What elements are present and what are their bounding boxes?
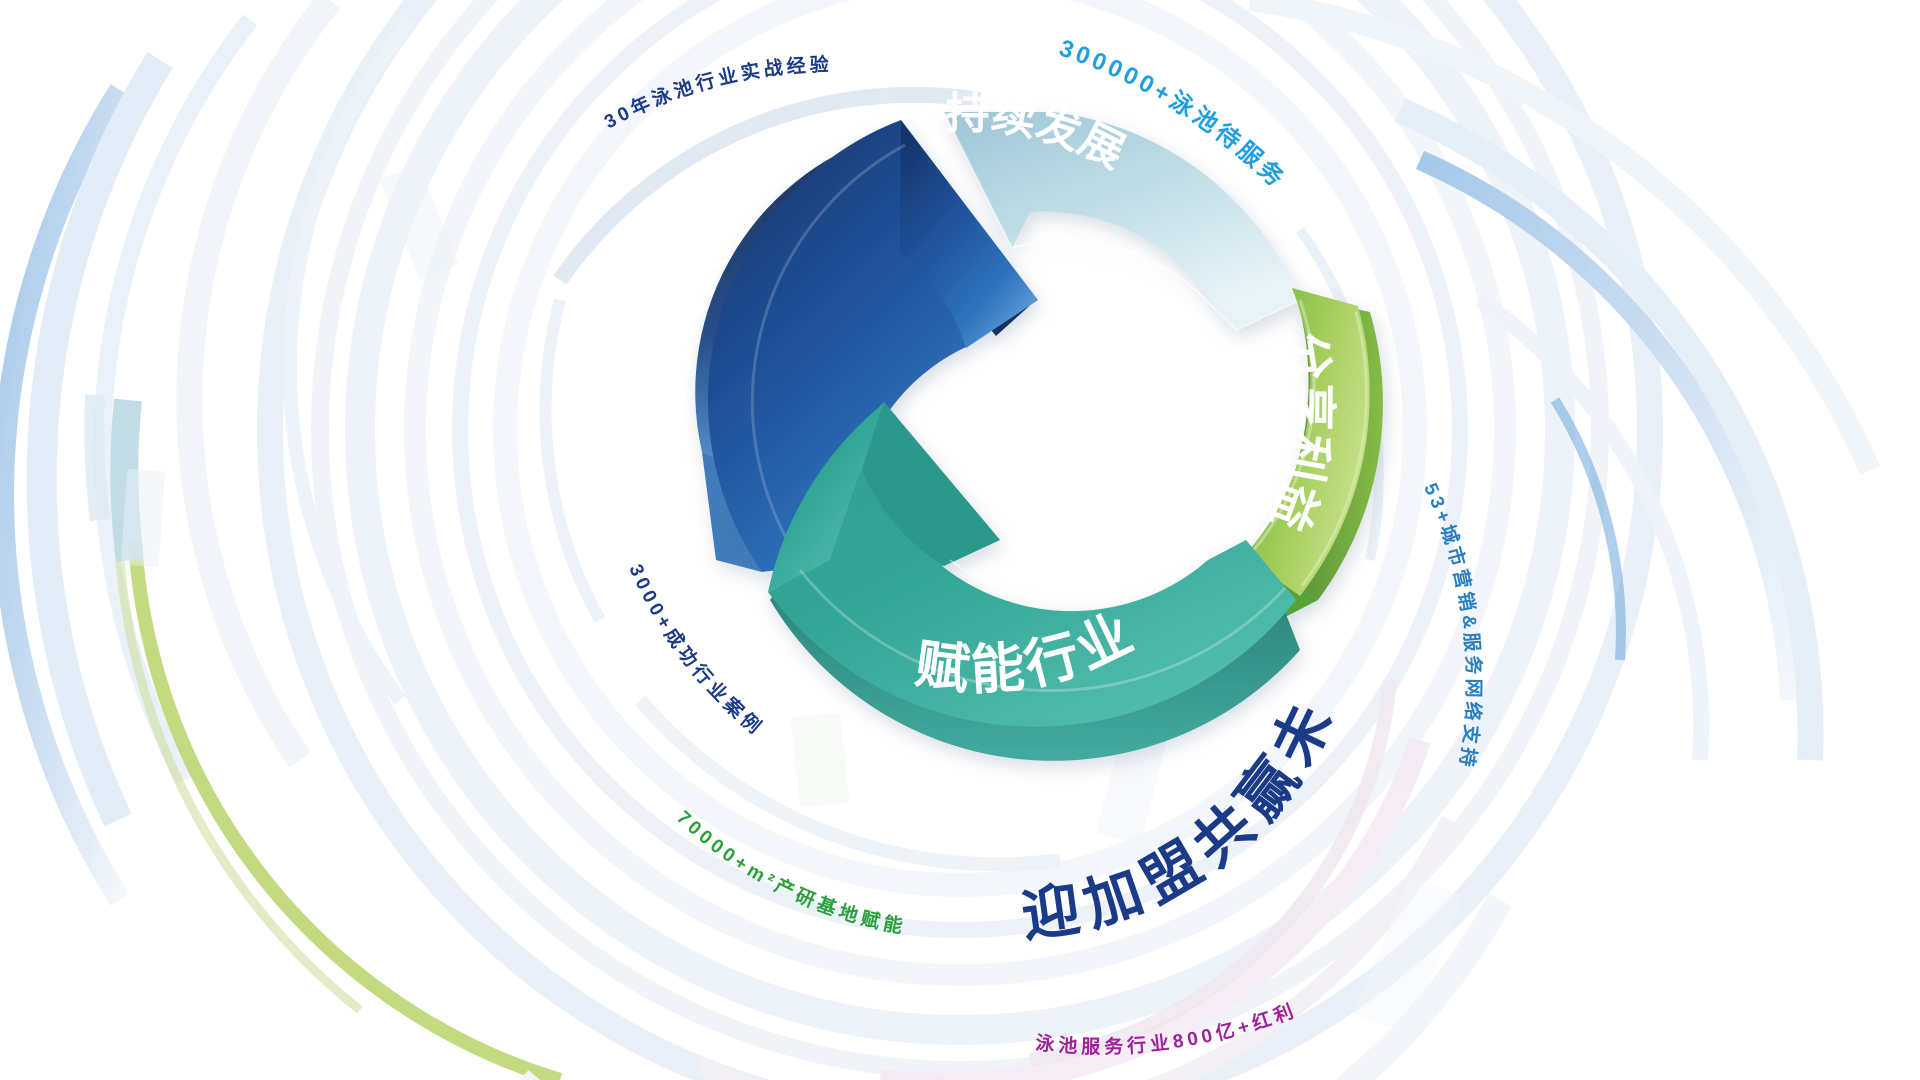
headline-join: 欢迎加盟共赢未来 (0, 0, 1347, 949)
arc-label-market: 泳池服务行业800亿+红利 (1034, 999, 1300, 1058)
arc-label-base: 70000+m²产研基地赋能 (672, 807, 908, 938)
arc-label-cases: 3000+成功行业案例 (624, 561, 768, 740)
arc-labels-layer: 30年泳池行业实战经验 300000+泳池待服务 53+城市营销&服务网络支持 … (0, 0, 1920, 1080)
arc-label-pools: 300000+泳池待服务 (1056, 35, 1292, 195)
arc-label-experience: 30年泳池行业实战经验 (601, 53, 833, 133)
infographic-canvas: 共同成长 持续发展 分享利益 赋能行业 30年泳池行业实战经验 (0, 0, 1920, 1080)
arc-label-cities: 53+城市营销&服务网络支持 (1419, 480, 1485, 772)
